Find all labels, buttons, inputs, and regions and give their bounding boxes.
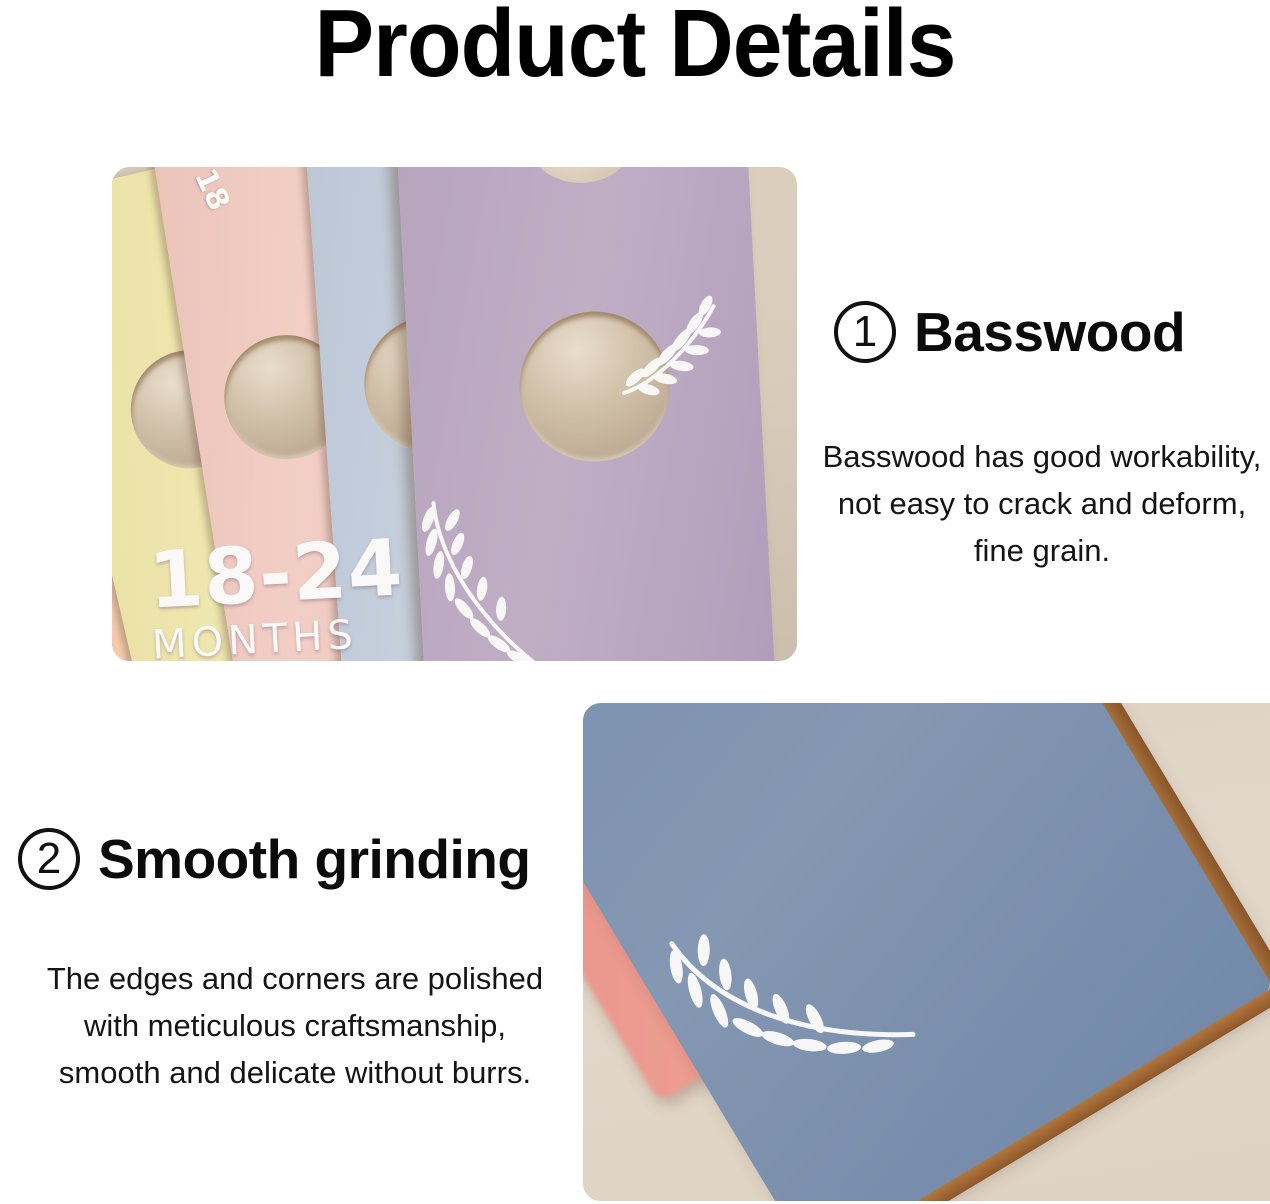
photo-hanger-stack: 24+ 18 9 (112, 167, 797, 661)
feature-1-number-badge: 1 (834, 301, 896, 363)
hanger-label-18: 18 (187, 167, 236, 216)
feature-2-body: The edges and corners are polished with … (30, 955, 560, 1096)
laurel-wreath-icon (411, 478, 587, 661)
feature-1-heading: 1 Basswood (834, 300, 1185, 364)
product-details-page: Product Details 24+ 18 9 (0, 0, 1270, 1204)
hanger-neck-cutout (527, 167, 637, 186)
feature-1-title: Basswood (914, 300, 1185, 364)
laurel-wreath-icon (789, 703, 1069, 724)
hanger-hole (516, 308, 674, 466)
page-title: Product Details (44, 0, 1225, 92)
hanger-label-9: 9 (326, 167, 366, 169)
photo-tag-closeup: 3-6 MONTHS (583, 703, 1270, 1201)
feature-2-heading: 2 Smooth grinding (18, 827, 530, 891)
hanger-label-24plus: 24+ (112, 219, 117, 304)
hanger-purple-front (396, 167, 777, 661)
feature-1-body: Basswood has good workability, not easy … (822, 433, 1262, 574)
feature-2-title: Smooth grinding (98, 827, 530, 891)
feature-2-number-badge: 2 (18, 828, 80, 890)
